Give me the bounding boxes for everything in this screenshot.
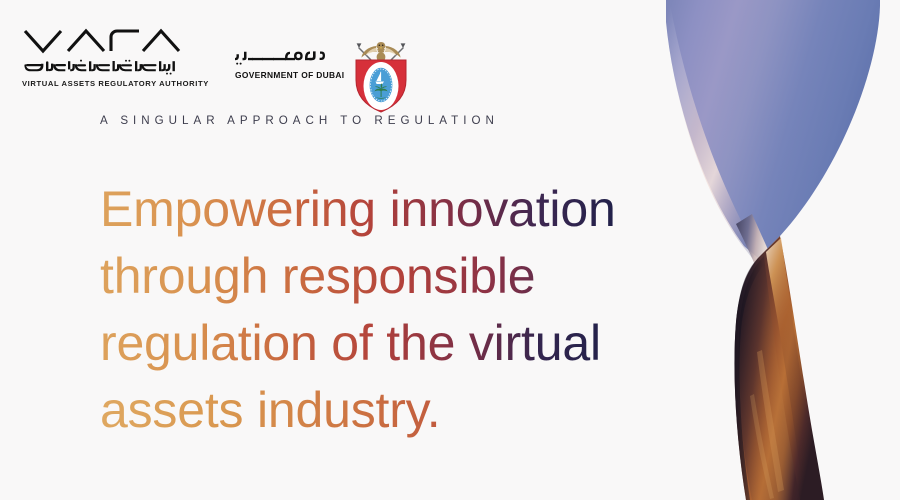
headline-line-3: regulation of the virtual [100,310,680,377]
dubai-government-emblem-icon [350,36,412,114]
abstract-ribbon-artwork [640,0,900,500]
dubai-english-name: GOVERNMENT OF DUBAI [235,70,344,80]
logo-lockup: VIRTUAL ASSETS REGULATORY AUTHORITY [22,24,412,114]
dubai-text-block: GOVERNMENT OF DUBAI [235,36,350,80]
abstract-ribbon-icon [640,0,900,500]
vara-logo[interactable]: VIRTUAL ASSETS REGULATORY AUTHORITY [22,24,187,88]
banner-root: VIRTUAL ASSETS REGULATORY AUTHORITY [0,0,900,500]
page-headline: Empowering innovation through responsibl… [100,176,680,444]
vara-arabic-name-icon [22,59,182,76]
dubai-arabic-name-icon [235,48,327,68]
headline-line-4: assets industry. [100,377,680,444]
vara-wordmark-icon [22,28,182,54]
vara-subtitle: VIRTUAL ASSETS REGULATORY AUTHORITY [22,79,187,88]
eyebrow-tagline: A SINGULAR APPROACH TO REGULATION [100,114,499,127]
headline-line-2: through responsible [100,243,680,310]
headline-line-1: Empowering innovation [100,176,680,243]
dubai-government-logo[interactable]: GOVERNMENT OF DUBAI [235,24,412,114]
